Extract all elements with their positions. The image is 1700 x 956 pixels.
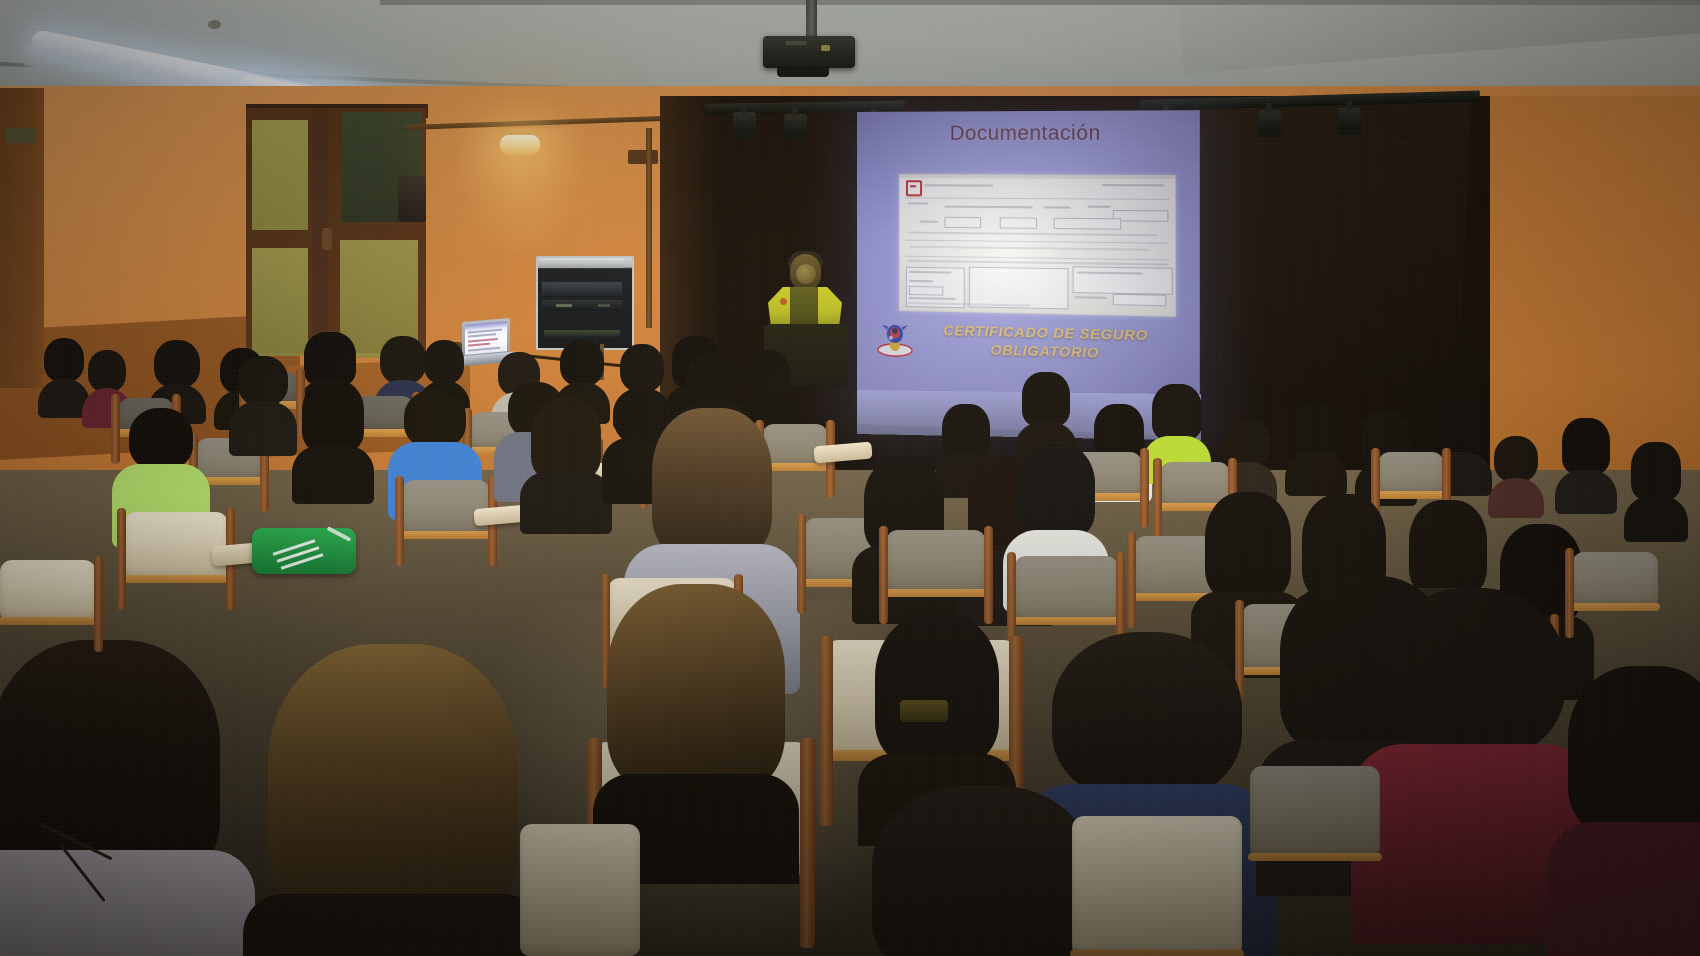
audience-member	[248, 644, 538, 956]
lecture-hall-photo: Documentación	[0, 0, 1700, 956]
audience-member	[1148, 384, 1206, 468]
audience-member	[40, 338, 88, 408]
audience-member	[232, 356, 294, 448]
track-spotlight-icon	[733, 112, 756, 139]
rack-indicator-light	[556, 304, 572, 307]
rack-device	[542, 282, 622, 296]
audience-member	[1556, 666, 1700, 956]
chair	[402, 480, 490, 536]
audience-member	[0, 640, 250, 956]
audience-member	[1018, 372, 1074, 452]
chair	[886, 530, 986, 594]
chair	[124, 512, 228, 580]
chair	[1378, 452, 1444, 496]
uniform-badge-icon	[780, 298, 787, 305]
track-spotlight-icon	[1258, 110, 1281, 137]
chair	[1014, 556, 1118, 622]
wall-lamp-icon	[500, 135, 540, 155]
green-sports-bag	[252, 528, 356, 574]
chair	[1572, 552, 1658, 608]
audience-member	[1558, 418, 1614, 500]
audience-member	[862, 786, 1102, 956]
track-spotlight-icon	[784, 114, 807, 141]
exit-sign-plate	[6, 128, 36, 143]
conduit-junction-box	[628, 150, 658, 164]
audience-member	[1628, 442, 1684, 526]
presenter-face	[796, 264, 816, 284]
ceiling-projector-icon	[763, 36, 855, 68]
chair	[1250, 766, 1380, 858]
rack-device	[542, 300, 622, 311]
projector-mount-pole	[806, 0, 817, 40]
rack-top-panel	[539, 258, 625, 268]
audience-member	[296, 380, 370, 490]
rack-indicator-light	[598, 304, 610, 307]
door-handle[interactable]	[322, 228, 332, 250]
chair	[1072, 816, 1242, 956]
audience-member	[1490, 436, 1542, 510]
chair	[520, 824, 640, 956]
audience-member	[1288, 402, 1344, 482]
wall-conduit	[646, 128, 652, 328]
laptop-screen	[465, 321, 507, 355]
chair	[0, 560, 96, 622]
wall-speaker-icon	[398, 176, 426, 222]
door-glass-panel	[252, 120, 308, 230]
ceiling-seam	[380, 0, 1700, 5]
ceiling-fitting	[208, 20, 221, 29]
audience-member	[596, 584, 796, 844]
jacket-logo-patch	[900, 700, 948, 722]
audience-member	[524, 398, 608, 526]
track-spotlight-icon	[1338, 108, 1361, 135]
